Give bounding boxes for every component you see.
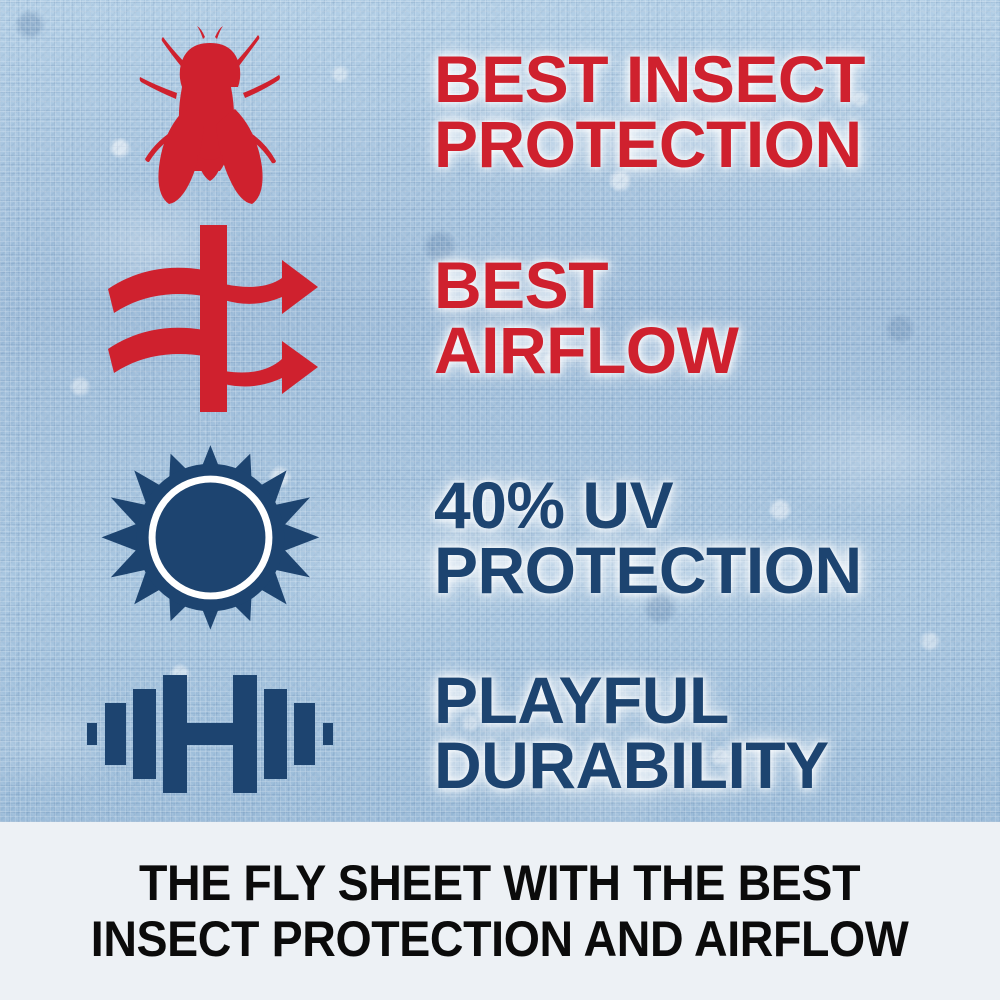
feature-text-insect-protection: BEST INSECT PROTECTION xyxy=(420,47,1000,176)
headline-durability: PLAYFUL DURABILITY xyxy=(434,668,1000,797)
feature-text-uv-protection: 40% UV PROTECTION xyxy=(420,473,1000,602)
sunburst-rays xyxy=(101,445,319,630)
sun-uv-icon xyxy=(0,435,420,640)
product-feature-infographic: BEST INSECT PROTECTION xyxy=(0,0,1000,1000)
caption-bar: THE FLY SHEET WITH THE BEST INSECT PROTE… xyxy=(0,822,1000,1000)
dumbbell-icon xyxy=(0,663,420,803)
airflow-icon xyxy=(0,221,420,416)
caption-headline: THE FLY SHEET WITH THE BEST INSECT PROTE… xyxy=(91,855,909,967)
feature-row-airflow: BEST AIRFLOW xyxy=(0,218,1000,418)
headline-insect-protection: BEST INSECT PROTECTION xyxy=(434,47,1000,176)
feature-row-insect-protection: BEST INSECT PROTECTION xyxy=(0,12,1000,212)
feature-list: BEST INSECT PROTECTION xyxy=(0,0,1000,822)
feature-row-uv-protection: 40% UV PROTECTION xyxy=(0,430,1000,645)
fly-icon xyxy=(0,17,420,207)
headline-airflow: BEST AIRFLOW xyxy=(434,253,1000,382)
feature-text-durability: PLAYFUL DURABILITY xyxy=(420,668,1000,797)
headline-uv-protection: 40% UV PROTECTION xyxy=(434,473,1000,602)
feature-row-durability: PLAYFUL DURABILITY xyxy=(0,648,1000,818)
feature-text-airflow: BEST AIRFLOW xyxy=(420,253,1000,382)
